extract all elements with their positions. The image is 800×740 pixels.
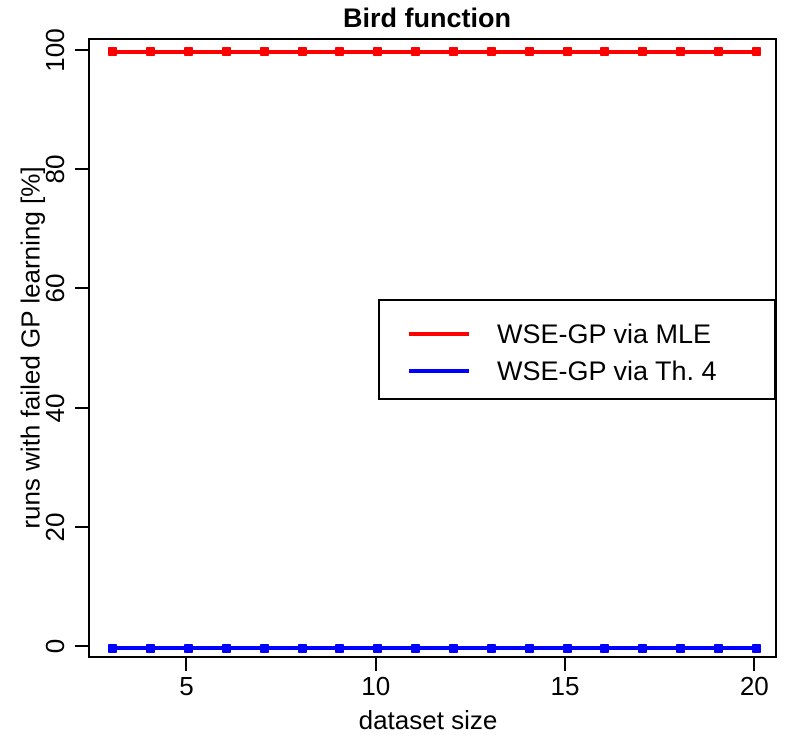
legend-label: WSE-GP via Th. 4 (497, 354, 717, 388)
y-tick-label: 100 (42, 20, 68, 80)
data-point (298, 644, 307, 653)
data-point (222, 47, 231, 56)
data-point (676, 47, 685, 56)
data-point (260, 47, 269, 56)
data-point (222, 644, 231, 653)
series-line (718, 646, 756, 650)
series-line (264, 646, 302, 650)
series-line (529, 50, 567, 54)
y-tick-label: 60 (42, 258, 68, 318)
y-tick-mark (75, 287, 88, 289)
data-point (146, 47, 155, 56)
series-line (681, 646, 719, 650)
y-tick-mark (75, 407, 88, 409)
series-line (226, 50, 264, 54)
data-point (373, 47, 382, 56)
series-line (491, 50, 529, 54)
series-line (151, 646, 189, 650)
series-line (643, 50, 681, 54)
legend-item: WSE-GP via MLE (380, 317, 774, 351)
series-line (567, 646, 605, 650)
series-line (340, 646, 378, 650)
series-line (453, 50, 491, 54)
legend-swatch (409, 332, 469, 336)
legend-item: WSE-GP via Th. 4 (380, 354, 774, 388)
legend-swatch (409, 369, 469, 373)
data-point (487, 644, 496, 653)
series-line (529, 646, 567, 650)
y-tick-label: 20 (42, 497, 68, 557)
series-line (188, 50, 226, 54)
series-line (302, 50, 340, 54)
series-line (378, 646, 416, 650)
data-point (752, 47, 761, 56)
data-point (449, 644, 458, 653)
y-tick-mark (75, 168, 88, 170)
data-point (373, 644, 382, 653)
data-point (260, 644, 269, 653)
data-point (714, 47, 723, 56)
legend-label: WSE-GP via MLE (497, 317, 711, 351)
series-line (605, 50, 643, 54)
series-line (605, 646, 643, 650)
y-tick-label: 0 (42, 616, 68, 676)
data-point (184, 644, 193, 653)
y-tick-label: 80 (42, 139, 68, 199)
series-line (151, 50, 189, 54)
data-point (600, 47, 609, 56)
series-line (302, 646, 340, 650)
x-tick-mark (753, 658, 755, 671)
data-point (525, 47, 534, 56)
series-line (681, 50, 719, 54)
data-point (184, 47, 193, 56)
data-point (487, 47, 496, 56)
x-tick-label: 20 (719, 673, 789, 699)
series-line (188, 646, 226, 650)
series-line (643, 646, 681, 650)
chart-figure: Bird function runs with failed GP learni… (0, 0, 800, 740)
data-point (146, 644, 155, 653)
y-tick-mark (75, 49, 88, 51)
data-point (108, 644, 117, 653)
data-point (411, 47, 420, 56)
data-point (563, 644, 572, 653)
data-point (335, 644, 344, 653)
series-line (113, 50, 151, 54)
y-tick-label: 40 (42, 378, 68, 438)
series-line (113, 646, 151, 650)
series-line (718, 50, 756, 54)
x-tick-label: 5 (151, 673, 221, 699)
series-line (264, 50, 302, 54)
data-point (335, 47, 344, 56)
x-tick-label: 15 (530, 673, 600, 699)
series-line (340, 50, 378, 54)
x-tick-mark (185, 658, 187, 671)
series-line (378, 50, 416, 54)
series-line (567, 50, 605, 54)
data-point (600, 644, 609, 653)
data-point (638, 644, 647, 653)
data-point (298, 47, 307, 56)
series-line (453, 646, 491, 650)
data-point (449, 47, 458, 56)
legend: WSE-GP via MLEWSE-GP via Th. 4 (378, 299, 776, 400)
x-tick-label: 10 (341, 673, 411, 699)
data-point (411, 644, 420, 653)
y-tick-mark (75, 526, 88, 528)
data-point (676, 644, 685, 653)
data-point (108, 47, 117, 56)
series-line (491, 646, 529, 650)
data-point (752, 644, 761, 653)
page-title: Bird function (27, 2, 800, 34)
x-axis-title: dataset size (28, 705, 800, 736)
data-point (525, 644, 534, 653)
x-tick-mark (564, 658, 566, 671)
data-point (563, 47, 572, 56)
series-line (416, 50, 454, 54)
y-tick-mark (75, 645, 88, 647)
data-point (638, 47, 647, 56)
series-line (416, 646, 454, 650)
y-axis-title: runs with failed GP learning [%] (16, 18, 47, 678)
data-point (714, 644, 723, 653)
x-tick-mark (375, 658, 377, 671)
series-line (226, 646, 264, 650)
